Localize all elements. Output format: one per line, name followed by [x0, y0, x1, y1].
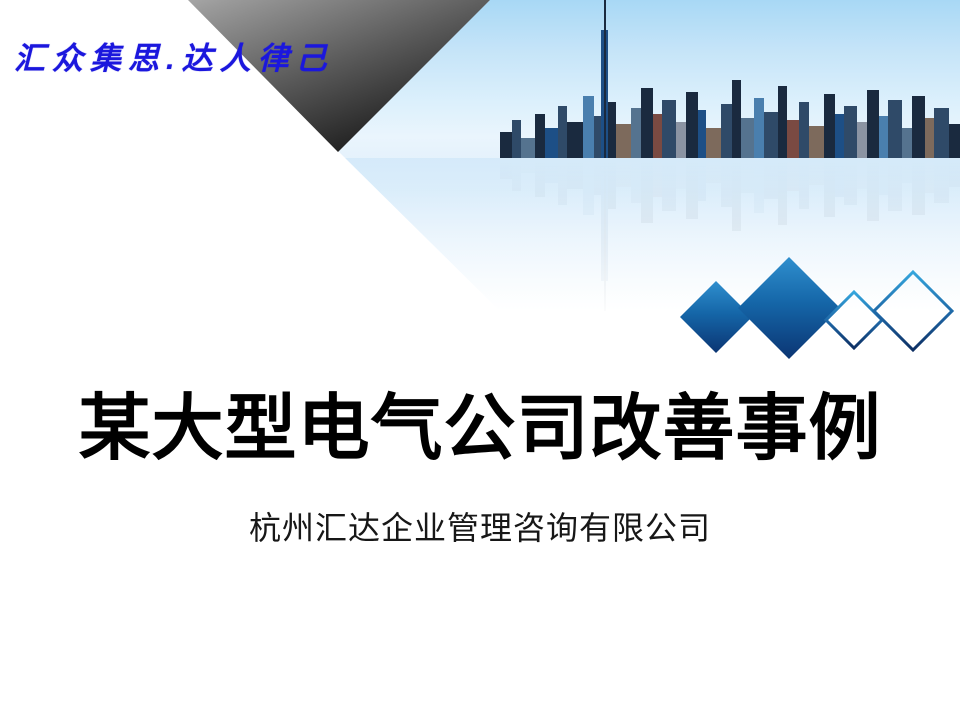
skyline-building	[764, 153, 778, 199]
title-block: 某大型电气公司改善事例 杭州汇达企业管理咨询有限公司	[0, 392, 960, 549]
skyline-building	[879, 116, 888, 158]
skyline-building	[764, 112, 778, 158]
skyline-building	[616, 153, 631, 187]
skyline-building	[662, 100, 676, 158]
slide-canvas: 汇众集思.达人律己 某大型电气公司改善事例 杭州汇达企业管理咨询有限公司	[0, 0, 960, 720]
skyline-building	[567, 122, 583, 158]
skyline-building	[686, 92, 698, 158]
page-title: 某大型电气公司改善事例	[0, 392, 960, 467]
skyline-building	[787, 120, 799, 158]
skyline-building	[732, 80, 741, 158]
skyline-building	[787, 153, 799, 191]
skyline-building	[567, 153, 583, 189]
skyline-building	[754, 98, 764, 158]
skyline-building	[631, 153, 641, 203]
skyline-building	[607, 153, 616, 209]
skyline-building	[535, 114, 545, 158]
skyline-building	[535, 153, 545, 197]
skyline-building	[835, 153, 844, 197]
skyline-building	[912, 153, 925, 215]
skyline-building	[741, 153, 754, 193]
skyline-building	[799, 102, 809, 158]
skyline-building	[583, 96, 594, 158]
skyline-building	[641, 153, 653, 223]
skyline-building	[512, 153, 521, 191]
tower-spire	[604, 153, 606, 321]
skyline-building	[676, 122, 686, 158]
skyline-building	[558, 153, 567, 205]
skyline-building	[662, 153, 676, 211]
skyline-building	[809, 153, 824, 185]
skyline-building	[706, 153, 721, 183]
skyline-building	[545, 128, 558, 158]
skyline-building	[835, 114, 844, 158]
skyline-building	[521, 138, 535, 158]
hero-banner: 汇众集思.达人律己	[0, 0, 960, 360]
skyline-building	[824, 153, 835, 217]
skyline-building	[698, 110, 706, 158]
skyline-building	[545, 153, 558, 183]
skyline-building	[558, 106, 567, 158]
skyline-building	[631, 108, 641, 158]
skyline-building	[888, 153, 902, 211]
skyline-building	[500, 132, 512, 158]
skyline-building	[653, 153, 662, 197]
skyline-building	[902, 128, 912, 158]
skyline-building	[857, 153, 867, 189]
skyline-building	[857, 122, 867, 158]
skyline-building	[799, 153, 809, 209]
company-subtitle: 杭州汇达企业管理咨询有限公司	[0, 503, 960, 549]
skyline-building	[721, 153, 732, 207]
skyline-building	[706, 128, 721, 158]
skyline-building	[912, 96, 925, 158]
skyline-building	[934, 153, 949, 203]
skyline-building	[844, 106, 857, 158]
skyline-building	[721, 104, 732, 158]
skyline-building	[641, 88, 653, 158]
tagline-text: 汇众集思.达人律己	[14, 33, 334, 78]
skyline-building	[949, 124, 960, 158]
skyline-building	[879, 153, 888, 195]
skyline-building	[824, 94, 835, 158]
skyline-building	[732, 153, 741, 231]
skyline-building	[809, 126, 824, 158]
skyline-building	[925, 153, 934, 193]
skyline-building	[754, 153, 764, 213]
skyline-building	[949, 153, 960, 187]
skyline-building	[778, 86, 787, 158]
skyline-building	[778, 153, 787, 225]
skyline-building	[616, 124, 631, 158]
skyline-building	[512, 120, 521, 158]
skyline-building	[607, 102, 616, 158]
skyline-building	[686, 153, 698, 219]
skyline-building	[888, 100, 902, 158]
skyline-building	[698, 153, 706, 201]
skyline-building	[902, 153, 912, 183]
tower-spire	[604, 0, 606, 158]
skyline-building	[867, 90, 879, 158]
skyline-building	[676, 153, 686, 189]
skyline-building	[844, 153, 857, 205]
skyline-building	[867, 153, 879, 221]
skyline-building	[934, 108, 949, 158]
skyline-building	[741, 118, 754, 158]
skyline-building	[653, 114, 662, 158]
skyline-building	[925, 118, 934, 158]
skyline-building	[583, 153, 594, 215]
skyline-reflection	[0, 158, 960, 311]
